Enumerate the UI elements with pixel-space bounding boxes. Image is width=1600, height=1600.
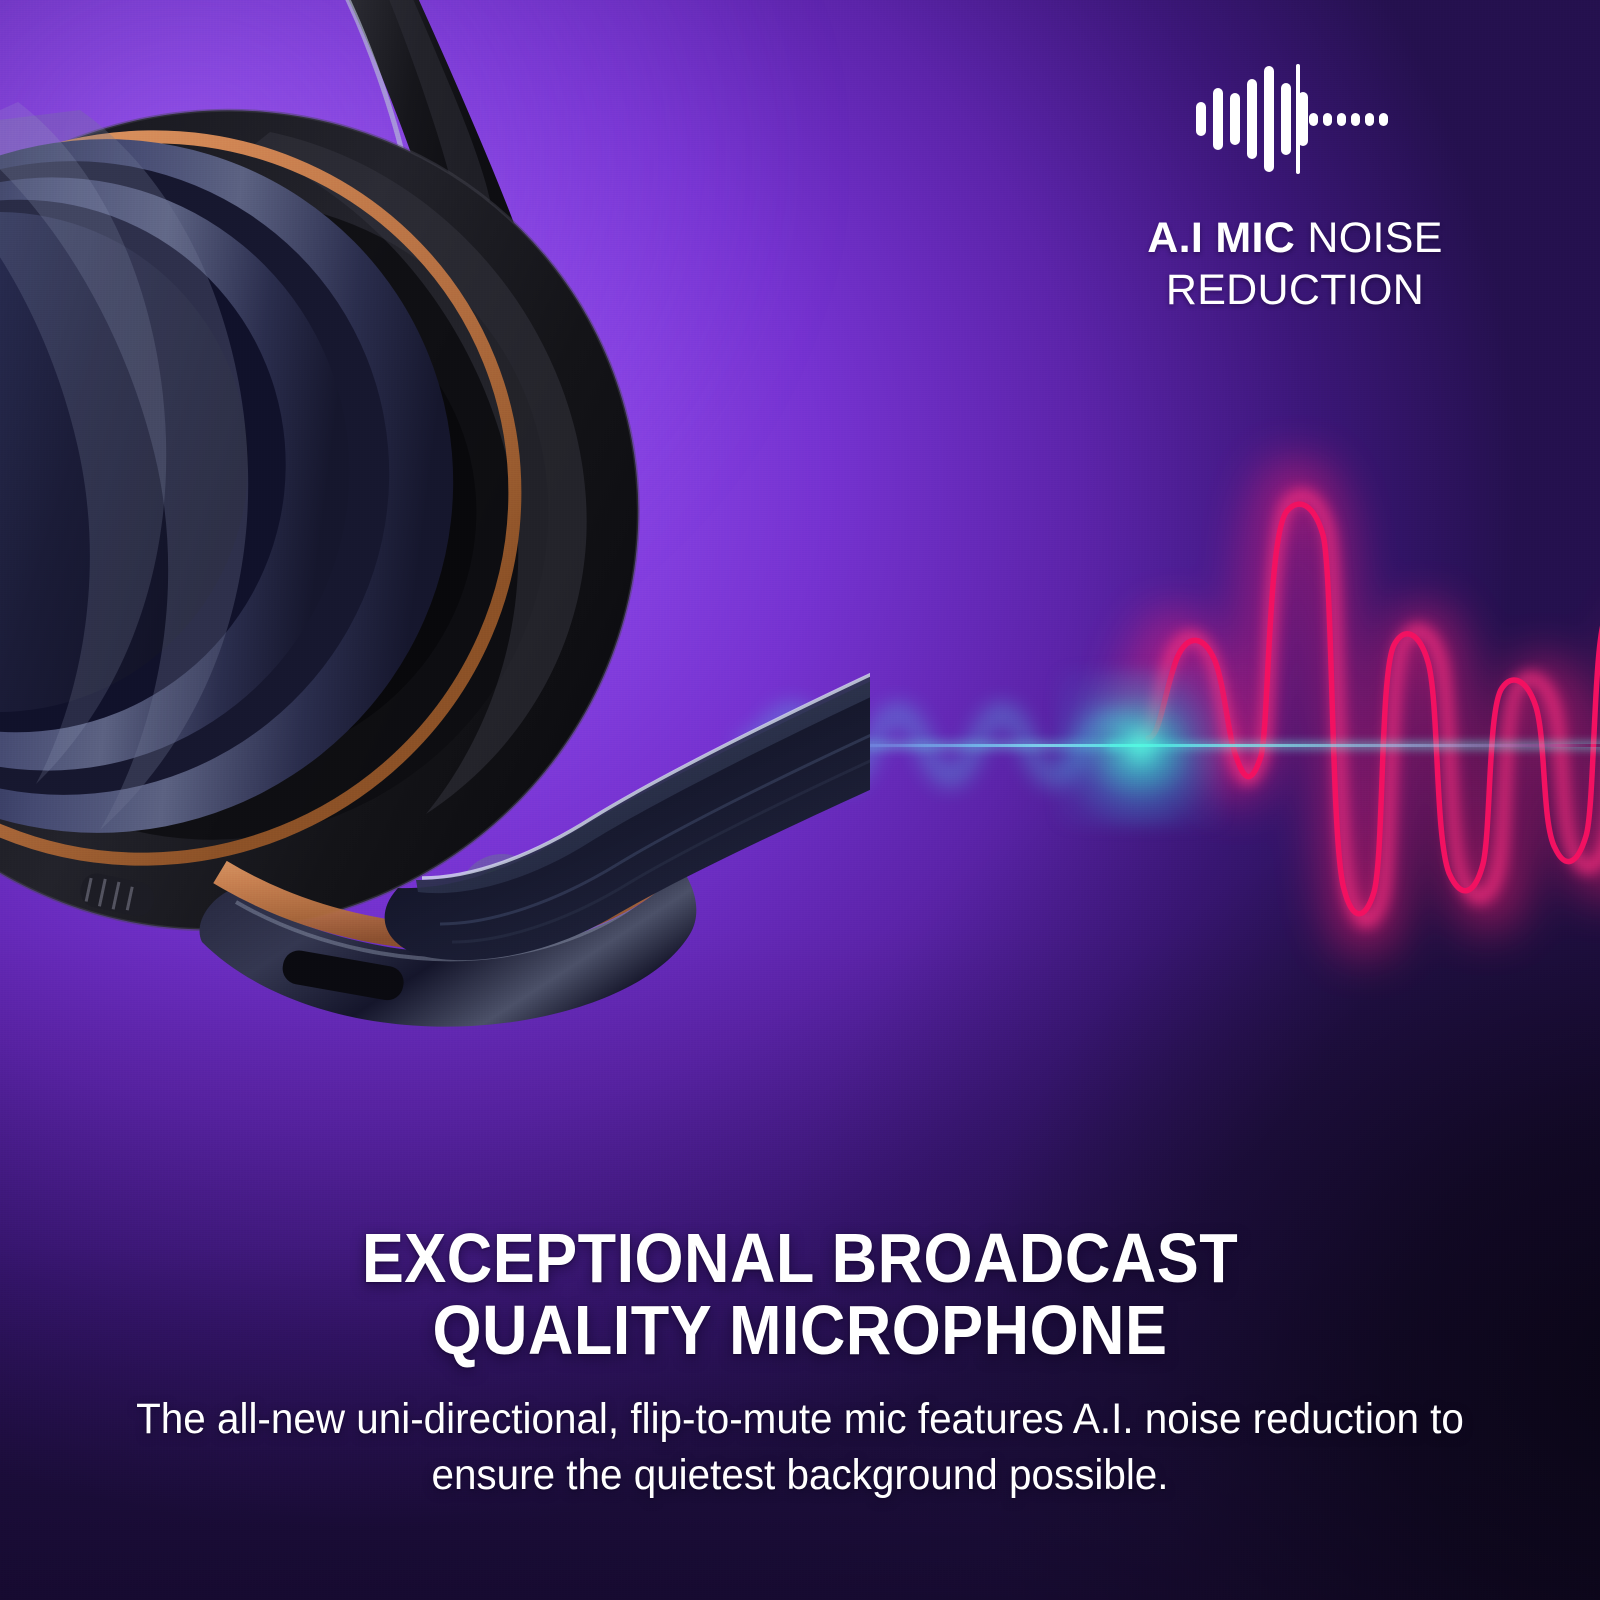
waveform-bar — [1247, 79, 1257, 159]
headline-line-2: QUALITY MICROPHONE — [80, 1294, 1520, 1366]
waveform-bar — [1213, 88, 1223, 150]
product-marketing-image: L ACH — [0, 0, 1600, 1600]
headline-line-1: EXCEPTIONAL BROADCAST — [362, 1219, 1238, 1297]
waveform-bar — [1230, 93, 1240, 145]
ai-mic-badge-title-bold: A.I MIC — [1147, 214, 1295, 262]
ai-mic-badge-title: A.I MIC NOISE REDUCTION — [1060, 212, 1530, 317]
noisy-input-waveform — [1140, 470, 1600, 970]
waveform-bar — [1196, 102, 1206, 136]
waveform-bar — [1264, 66, 1274, 172]
waveform-dot — [1309, 113, 1318, 126]
page-title: EXCEPTIONAL BROADCAST QUALITY MICROPHONE — [80, 1222, 1520, 1366]
waveform-bars — [1196, 64, 1308, 174]
gaming-headset-product: L ACH — [0, 0, 870, 1080]
waveform-divider-line — [1296, 64, 1300, 174]
waveform-dot — [1337, 113, 1346, 126]
waveform-dot — [1379, 113, 1388, 126]
waveform-reduced-dots — [1309, 64, 1388, 174]
waveform-bar — [1281, 83, 1291, 155]
noisy-waveform-core-stroke — [1140, 470, 1600, 970]
waveform-dot — [1323, 113, 1332, 126]
waveform-dot — [1351, 113, 1360, 126]
description-text: The all-new uni-directional, flip-to-mut… — [86, 1392, 1515, 1504]
audio-waveform-noise-reduction-icon — [1196, 64, 1386, 174]
clean-signal-line-right — [1110, 744, 1600, 747]
subcopy-line-1: The all-new uni-directional, flip-to-mut… — [136, 1395, 1133, 1443]
waveform-dot — [1365, 113, 1374, 126]
